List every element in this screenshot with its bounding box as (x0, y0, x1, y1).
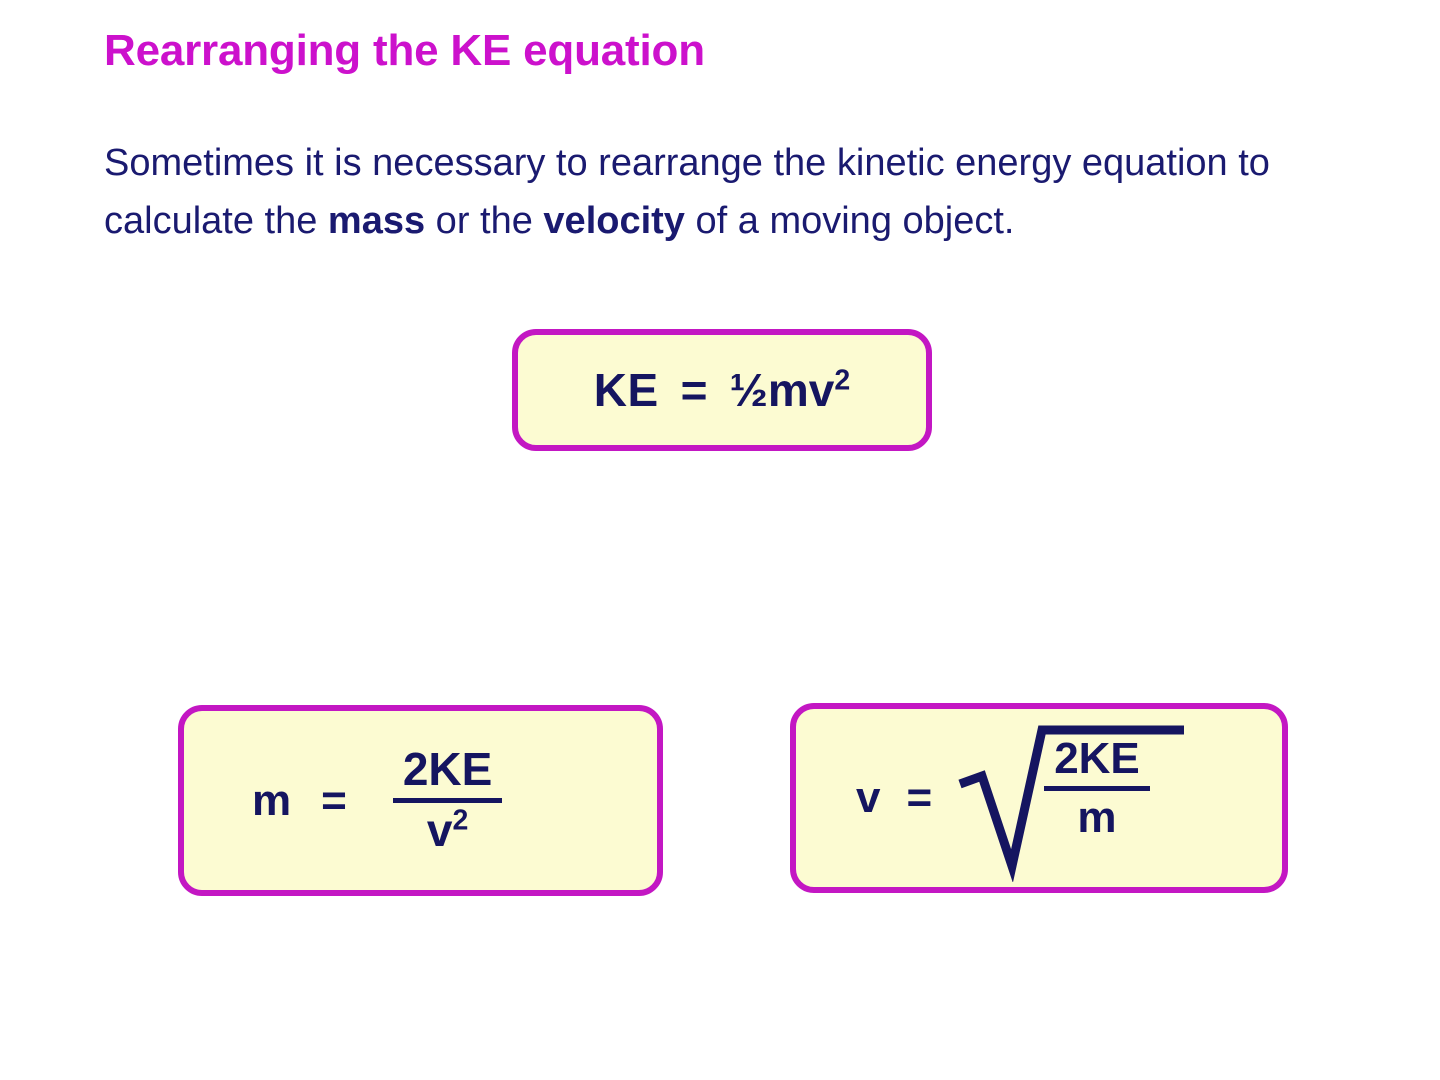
equation-mass: m = 2KE v2 (184, 711, 657, 890)
equation-ke-rhs-base: mv (768, 364, 834, 416)
equation-ke-lhs: KE (594, 363, 659, 417)
equation-ke-equals: = (681, 363, 708, 417)
equation-velocity-equals: = (906, 773, 932, 823)
equation-mass-lhs: m (252, 776, 291, 826)
fraction-velocity-denominator: m (1067, 795, 1126, 841)
body-text-bold-velocity: velocity (543, 200, 685, 242)
formula-box-mass: m = 2KE v2 (178, 705, 663, 896)
page-title: Rearranging the KE equation (104, 26, 705, 76)
body-text-segment-3: of a moving object. (685, 200, 1015, 242)
fraction-mass: 2KE v2 (393, 746, 502, 855)
fraction-mass-denominator: v2 (417, 807, 478, 855)
equation-mass-equals: = (321, 776, 347, 826)
formula-box-velocity: v = 2KE m (790, 703, 1288, 893)
equation-ke-rhs: ½mv2 (730, 363, 851, 417)
fraction-velocity: 2KE m (1044, 714, 1150, 841)
body-paragraph: Sometimes it is necessary to rearrange t… (104, 134, 1364, 250)
fraction-velocity-numerator: 2KE (1044, 736, 1150, 782)
radical-group: 2KE m (956, 714, 1150, 882)
fraction-mass-denominator-exponent: 2 (452, 805, 468, 837)
equation-ke-rhs-exponent: 2 (834, 365, 850, 397)
equation-kinetic-energy: KE = ½mv2 (518, 335, 926, 445)
body-text-segment-2: or the (425, 200, 543, 242)
equation-velocity: v = 2KE m (796, 709, 1282, 887)
fraction-bar (1044, 786, 1150, 791)
equation-velocity-lhs: v (856, 773, 880, 823)
formula-box-kinetic-energy: KE = ½mv2 (512, 329, 932, 451)
fraction-mass-numerator: 2KE (393, 746, 502, 794)
body-text-bold-mass: mass (328, 200, 425, 242)
one-half-glyph: ½ (730, 364, 768, 416)
fraction-bar (393, 798, 502, 803)
fraction-mass-denominator-base: v (427, 804, 453, 856)
